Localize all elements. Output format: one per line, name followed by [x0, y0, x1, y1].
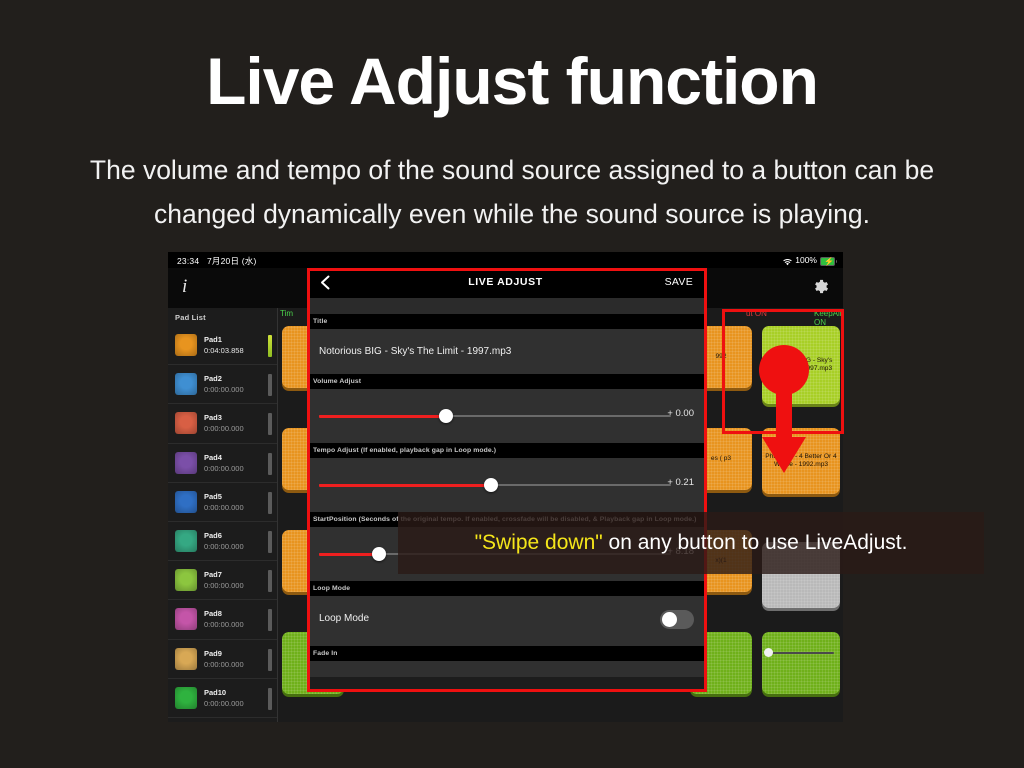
pad-time: 0:00:00.000: [204, 463, 244, 474]
volume-section-header: Volume Adjust: [307, 374, 704, 389]
battery-percent: 100%: [795, 255, 817, 265]
pad-list-rows: Pad10:04:03.858Pad20:00:00.000Pad30:00:0…: [168, 326, 277, 718]
pad-meta: Pad90:00:00.000: [204, 648, 244, 670]
pad-level-bar[interactable]: [268, 649, 273, 671]
pad-name: Pad8: [204, 608, 244, 619]
pad-meta: Pad10:04:03.858: [204, 334, 244, 356]
pad-time: 0:00:00.000: [204, 541, 244, 552]
pad-level-bar[interactable]: [268, 609, 273, 631]
tempo-slider-fill: [319, 484, 491, 487]
pad-meta: Pad80:00:00.000: [204, 608, 244, 630]
pad-list-item[interactable]: Pad70:00:00.000: [168, 561, 277, 600]
pad-color-swatch: [175, 569, 197, 591]
pad-list-item[interactable]: Pad10:04:03.858: [168, 326, 277, 365]
pad-time: 0:00:00.000: [204, 502, 244, 513]
pad-color-swatch: [175, 412, 197, 434]
device-screenshot: 23:34 7月20日 (水) 100% ⚡ i P: [168, 252, 843, 722]
tempo-slider-knob[interactable]: [484, 478, 498, 492]
pad-time: 0:00:00.000: [204, 619, 244, 630]
pad-color-swatch: [175, 452, 197, 474]
save-button[interactable]: SAVE: [665, 276, 693, 288]
pad-level-bar[interactable]: [268, 374, 273, 396]
pad-name: Pad5: [204, 491, 244, 502]
pad-level-bar[interactable]: [268, 570, 273, 592]
caption-text: "Swipe down" on any button to use LiveAd…: [475, 531, 908, 555]
pad-time: 0:00:00.000: [204, 423, 244, 434]
pad-list-item[interactable]: Pad60:00:00.000: [168, 522, 277, 561]
pad-meta: Pad20:00:00.000: [204, 373, 244, 395]
pad-time: 0:00:00.000: [204, 384, 244, 395]
pad-level-bar[interactable]: [268, 335, 273, 357]
pad-color-swatch: [175, 334, 197, 356]
pad-list-item[interactable]: Pad40:00:00.000: [168, 444, 277, 483]
fadein-section-header: Fade In: [307, 646, 704, 661]
tempo-section-body: + 0.21: [307, 458, 704, 512]
startposition-slider-fill: [319, 553, 379, 556]
page-subtitle: The volume and tempo of the sound source…: [18, 148, 1006, 236]
grid-pad-pharcyde[interactable]: Pharcyde - 4 Better Or 4 Worse - 1992.mp…: [762, 428, 840, 494]
pad-time: 0:00:00.000: [204, 659, 244, 670]
pad-list-item[interactable]: Pad90:00:00.000: [168, 640, 277, 679]
caption-banner: "Swipe down" on any button to use LiveAd…: [398, 512, 984, 574]
pad-level-bar[interactable]: [268, 453, 273, 475]
status-bar-right: 100% ⚡: [783, 255, 835, 265]
pad-list-item[interactable]: Pad80:00:00.000: [168, 600, 277, 639]
volume-slider-fill: [319, 415, 446, 418]
pad-name: Pad9: [204, 648, 244, 659]
loop-mode-label: Loop Mode: [319, 613, 369, 624]
caption-rest: on any button to use LiveAdjust.: [603, 531, 908, 554]
title-section-header: Title: [307, 314, 704, 329]
pad-list-title: Pad List: [168, 308, 277, 326]
pad-meta: Pad100:00:00.000: [204, 687, 244, 709]
grid-volume-track[interactable]: [772, 652, 834, 654]
loop-mode-toggle[interactable]: [660, 610, 694, 629]
grid-header-2: KeepAlive ON: [814, 309, 843, 327]
pad-color-swatch: [175, 530, 197, 552]
grid-header-1: ut ON: [746, 309, 767, 318]
battery-charging-icon: ⚡: [820, 257, 835, 266]
pad-name: Pad4: [204, 452, 244, 463]
modal-spacer: [307, 298, 704, 314]
status-date: 7月20日 (水): [207, 256, 257, 266]
page-subtitle-line1: The volume and tempo of the sound source…: [18, 148, 1006, 192]
startposition-slider-knob[interactable]: [372, 547, 386, 561]
pad-meta: Pad60:00:00.000: [204, 530, 244, 552]
pad-level-bar[interactable]: [268, 531, 273, 553]
pad-meta: Pad30:00:00.000: [204, 412, 244, 434]
grid-pad-notorious[interactable]: Notorious BIG - Sky's The Limit - 1997.m…: [762, 326, 840, 404]
tempo-value: + 0.21: [667, 477, 694, 488]
pad-name: Pad7: [204, 569, 244, 580]
wifi-icon: [783, 258, 792, 265]
pad-color-swatch: [175, 648, 197, 670]
grid-volume-knob[interactable]: [764, 648, 773, 657]
pad-level-bar[interactable]: [268, 492, 273, 514]
grid-pad-green-bottom[interactable]: [762, 632, 840, 694]
pad-list-item[interactable]: Pad30:00:00.000: [168, 404, 277, 443]
modal-title: LIVE ADJUST: [307, 276, 704, 288]
tempo-section-header: Tempo Adjust (If enabled, playback gap i…: [307, 443, 704, 458]
pad-meta: Pad40:00:00.000: [204, 452, 244, 474]
volume-slider-knob[interactable]: [439, 409, 453, 423]
info-icon[interactable]: i: [182, 276, 187, 298]
page-title: Live Adjust function: [0, 44, 1024, 118]
pad-color-swatch: [175, 687, 197, 709]
pad-meta: Pad70:00:00.000: [204, 569, 244, 591]
pad-time: 0:00:00.000: [204, 580, 244, 591]
pad-name: Pad10: [204, 687, 244, 698]
fadein-section-body: [307, 661, 704, 677]
gear-icon[interactable]: [812, 278, 829, 295]
pad-name: Pad3: [204, 412, 244, 423]
caption-highlight: "Swipe down": [475, 531, 603, 554]
pad-level-bar[interactable]: [268, 688, 273, 710]
pad-name: Pad1: [204, 334, 244, 345]
pad-name: Pad6: [204, 530, 244, 541]
pad-list-item[interactable]: Pad20:00:00.000: [168, 365, 277, 404]
grid-header-0: Tim: [280, 309, 293, 318]
status-bar: 23:34 7月20日 (水) 100% ⚡: [168, 252, 843, 268]
pad-time: 0:00:00.000: [204, 698, 244, 709]
loopmode-section-header: Loop Mode: [307, 581, 704, 596]
track-title-value[interactable]: Notorious BIG - Sky's The Limit - 1997.m…: [307, 329, 704, 374]
page-subtitle-line2: changed dynamically even while the sound…: [18, 192, 1006, 236]
volume-section-body: + 0.00: [307, 389, 704, 443]
pad-color-swatch: [175, 373, 197, 395]
pad-meta: Pad50:00:00.000: [204, 491, 244, 513]
modal-header: LIVE ADJUST SAVE: [307, 268, 704, 298]
live-adjust-modal: LIVE ADJUST SAVE Title Notorious BIG - S…: [307, 268, 704, 692]
pad-list-item[interactable]: Pad50:00:00.000: [168, 483, 277, 522]
pad-name: Pad2: [204, 373, 244, 384]
title-section-body: Notorious BIG - Sky's The Limit - 1997.m…: [307, 329, 704, 374]
status-time: 23:34: [177, 256, 199, 266]
pad-color-swatch: [175, 491, 197, 513]
slide-root: Live Adjust function The volume and temp…: [0, 0, 1024, 768]
pad-list-panel: Pad List Pad10:04:03.858Pad20:00:00.000P…: [168, 308, 278, 722]
pad-list-item[interactable]: Pad100:00:00.000: [168, 679, 277, 718]
pad-time: 0:04:03.858: [204, 345, 244, 356]
pad-level-bar[interactable]: [268, 413, 273, 435]
status-bar-left: 23:34 7月20日 (水): [177, 255, 256, 267]
loopmode-section-body: Loop Mode: [307, 596, 704, 646]
volume-value: + 0.00: [667, 408, 694, 419]
pad-color-swatch: [175, 608, 197, 630]
